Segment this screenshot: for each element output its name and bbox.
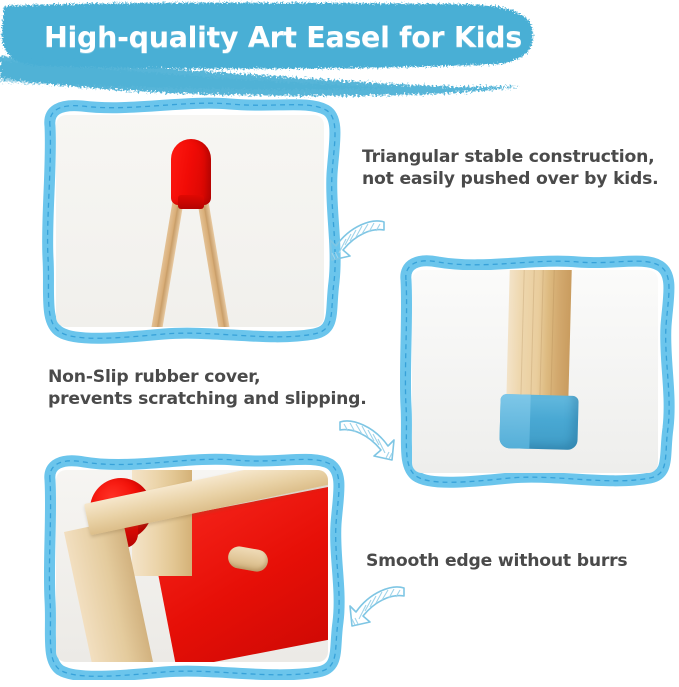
caption-line-2: prevents scratching and slipping. [48, 388, 367, 410]
caption-line-1: Triangular stable construction, [362, 146, 658, 168]
wood-grain-line [520, 270, 525, 406]
wooden-leg [506, 270, 572, 407]
easel-leg-left [151, 192, 185, 327]
caption-line-1: Non-Slip rubber cover, [48, 366, 367, 388]
feature-caption-smooth-edge: Smooth edge without burrs [366, 550, 627, 572]
photo-canvas [56, 115, 324, 327]
infographic-page: High-quality Art Easel for Kids [0, 0, 679, 687]
curved-arrow-down-right-icon [334, 412, 404, 472]
feature-caption-non-slip-foot: Non-Slip rubber cover, prevents scratchi… [48, 366, 367, 410]
curved-arrow-down-left-icon [340, 578, 410, 638]
feature-photo-triangular-stability [34, 96, 346, 346]
easel-top-red-cap [171, 139, 211, 205]
wood-grain-line [539, 270, 544, 406]
photo-canvas [412, 270, 658, 473]
easel-leg-right [196, 192, 230, 327]
photo-canvas [56, 470, 328, 662]
feature-caption-triangular-stability: Triangular stable construction, not easi… [362, 146, 658, 190]
feature-photo-smooth-edge [34, 452, 350, 680]
caption-line-2: not easily pushed over by kids. [362, 168, 658, 190]
blue-rubber-foot-cover [499, 394, 578, 450]
caption-line-1: Smooth edge without burrs [366, 550, 627, 572]
curved-arrow-down-left-icon [320, 212, 390, 272]
header-banner: High-quality Art Easel for Kids [0, 0, 679, 100]
wood-grain-line [550, 270, 555, 406]
page-title: High-quality Art Easel for Kids [44, 14, 544, 62]
wood-grain-line [530, 270, 535, 406]
feature-photo-non-slip-foot [392, 252, 677, 490]
